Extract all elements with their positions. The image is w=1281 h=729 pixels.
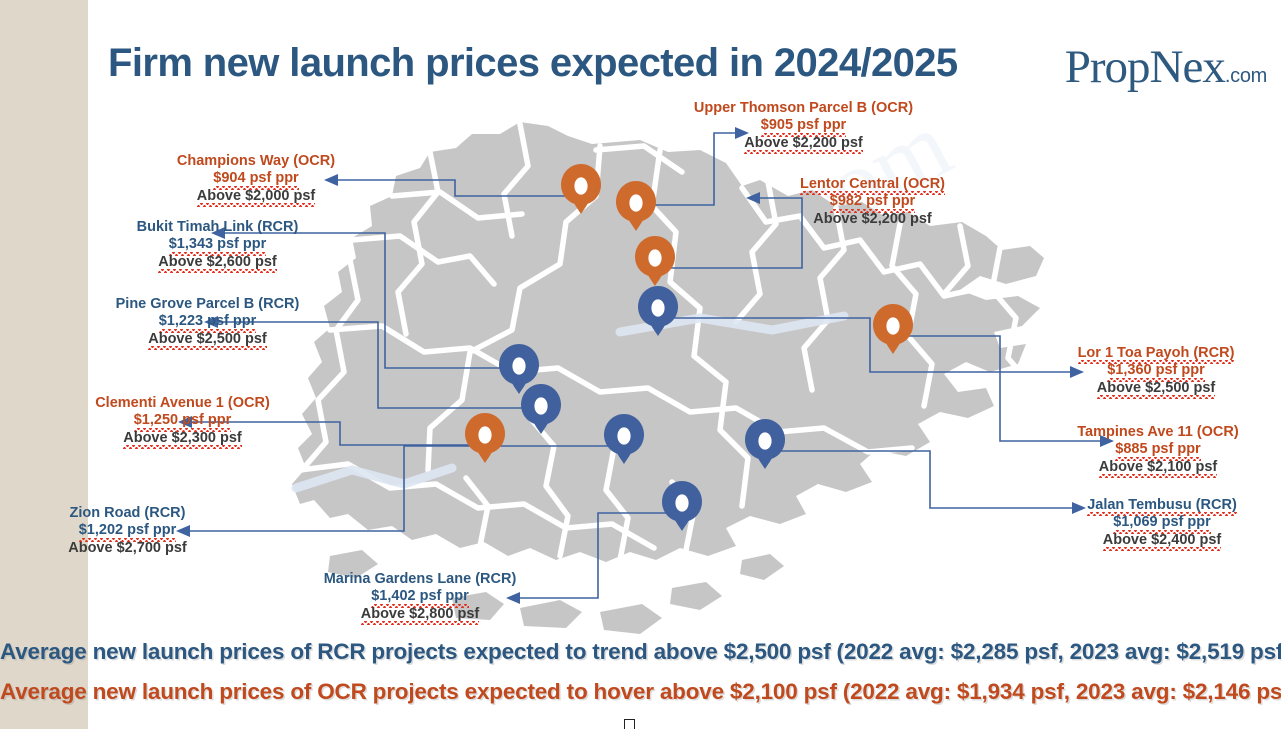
callout-ppr: $982 psf ppr [830, 193, 915, 210]
callout-above: Above $2,000 psf [197, 188, 315, 205]
callout-title: Lor 1 Toa Payoh (RCR) [1078, 345, 1235, 362]
callout-above: Above $2,600 psf [158, 254, 276, 271]
callout-ppr: $1,223 psf ppr [159, 313, 257, 330]
callout-title: Tampines Ave 11 (OCR) [1038, 424, 1278, 441]
callout-above: Above $2,500 psf [1097, 380, 1215, 397]
callout-jalan-tembusu: Jalan Tembusu (RCR) $1,069 psf ppr Above… [1048, 497, 1276, 549]
callout-ppr: $1,202 psf ppr [79, 522, 177, 539]
callout-above: Above $2,500 psf [148, 331, 266, 348]
callout-title: Lentor Central (OCR) [800, 176, 945, 193]
callout-ppr: $1,069 psf ppr [1113, 514, 1211, 531]
callout-marina-gardens-lane: Marina Gardens Lane (RCR) $1,402 psf ppr… [290, 571, 550, 623]
callout-ppr: $1,250 psf ppr [134, 412, 232, 429]
callout-tampines-ave-11: Tampines Ave 11 (OCR) $885 psf ppr Above… [1038, 424, 1278, 476]
callout-title: Champions Way (OCR) [110, 153, 402, 170]
summary-rcr: Average new launch prices of RCR project… [0, 639, 1281, 665]
callout-title: Upper Thomson Parcel B (OCR) [646, 100, 961, 117]
callout-zion-road: Zion Road (RCR) $1,202 psf ppr Above $2,… [0, 505, 255, 557]
callout-above: Above $2,400 psf [1103, 532, 1221, 549]
callout-lor-1-toa-payoh: Lor 1 Toa Payoh (RCR) $1,360 psf ppr Abo… [1041, 345, 1271, 397]
selection-handle-marker[interactable] [624, 719, 635, 729]
callout-ppr: $1,343 psf ppr [169, 236, 267, 253]
callout-ppr: $885 psf ppr [1115, 441, 1200, 458]
callout-clementi-avenue-1: Clementi Avenue 1 (OCR) $1,250 psf ppr A… [0, 395, 385, 447]
callout-title: Jalan Tembusu (RCR) [1087, 497, 1237, 514]
callout-pine-grove-parcel-b: Pine Grove Parcel B (RCR) $1,223 psf ppr… [10, 296, 405, 348]
callout-bukit-timah-link: Bukit Timah Link (RCR) $1,343 psf ppr Ab… [30, 219, 405, 271]
callout-above: Above $2,100 psf [1099, 459, 1217, 476]
callout-title: Clementi Avenue 1 (OCR) [0, 395, 385, 412]
callout-upper-thomson-parcel-b: Upper Thomson Parcel B (OCR) $905 psf pp… [646, 100, 961, 152]
callout-ppr: $904 psf ppr [213, 170, 298, 187]
callout-ppr: $1,402 psf ppr [371, 588, 469, 605]
callout-title: Bukit Timah Link (RCR) [30, 219, 405, 236]
callout-title: Pine Grove Parcel B (RCR) [10, 296, 405, 313]
callout-title: Marina Gardens Lane (RCR) [290, 571, 550, 588]
callout-ppr: $1,360 psf ppr [1107, 362, 1205, 379]
summary-ocr: Average new launch prices of OCR project… [0, 679, 1281, 705]
callout-lentor-central: Lentor Central (OCR) $982 psf ppr Above … [745, 176, 1000, 228]
callout-above: Above $2,800 psf [361, 606, 479, 623]
callout-above: Above $2,300 psf [123, 430, 241, 447]
callout-ppr: $905 psf ppr [761, 117, 846, 134]
callout-above: Above $2,700 psf [0, 540, 255, 557]
callout-above: Above $2,200 psf [745, 211, 1000, 228]
callout-above: Above $2,200 psf [744, 135, 862, 152]
callout-title: Zion Road (RCR) [0, 505, 255, 522]
callout-champions-way: Champions Way (OCR) $904 psf ppr Above $… [110, 153, 402, 205]
slide-canvas: Firm new launch prices expected in 2024/… [0, 0, 1281, 729]
